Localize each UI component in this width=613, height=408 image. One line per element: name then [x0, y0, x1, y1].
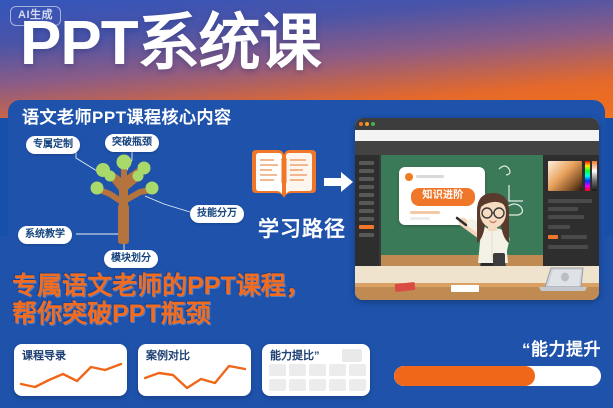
editor-toolbar[interactable] [355, 141, 599, 155]
progress-bar-fill [394, 366, 535, 386]
tool-row-2[interactable] [359, 169, 374, 173]
tool-row-5[interactable] [359, 193, 374, 197]
page-title: PPT系统课 [20, 8, 321, 80]
mindmap-node-3[interactable]: 系统教学 [18, 226, 72, 244]
headline-block: 专属语文老师的PPT课程， 帮你突破PPT瓶颈 [12, 272, 311, 328]
slide-title-bar [416, 175, 444, 178]
panel-row-active[interactable] [548, 235, 558, 239]
grid-block [309, 364, 326, 376]
bottom-cards: 课程导录 案例对比 能力提比” [14, 344, 370, 396]
grid-block [289, 379, 306, 391]
grid-block [289, 364, 306, 376]
panel-row-6[interactable] [548, 245, 588, 249]
grid-block [329, 364, 346, 376]
editor-left-toolbar[interactable] [355, 155, 379, 266]
traffic-dot-1 [359, 122, 363, 126]
color-picker-field[interactable] [548, 161, 582, 191]
panel-row-4[interactable] [548, 225, 570, 229]
card-case-comparison[interactable]: 案例对比 [138, 344, 251, 396]
section-heading: 语文老师PPT课程核心内容 [22, 108, 232, 128]
progress-label: “能力提升 [522, 340, 601, 359]
mindmap-node-0[interactable]: 专属定制 [26, 136, 80, 154]
card-title: 课程导录 [22, 350, 66, 362]
arrow-right-icon [324, 170, 354, 194]
mindmap-node-4[interactable]: 模块划分 [104, 250, 158, 268]
headline-line-2: 帮你突破PPT瓶颈 [12, 300, 311, 328]
tool-row-1[interactable] [359, 161, 374, 165]
card-title: 案例对比 [146, 350, 190, 362]
traffic-light-dots [359, 122, 375, 126]
paper-prop [451, 285, 479, 292]
laptop-icon [537, 265, 589, 291]
blocks-grid [269, 364, 366, 391]
poster-root: AI生成 PPT系统课 语文老师PPT课程核心内容 [0, 0, 613, 408]
grid-block [269, 379, 286, 391]
panel-row-1[interactable] [548, 199, 592, 203]
tool-row-7[interactable] [359, 209, 374, 213]
tool-row-active[interactable] [359, 225, 374, 229]
tool-row-3[interactable] [359, 177, 374, 181]
mindmap-node-1[interactable]: 突破瓶颈 [105, 134, 159, 152]
panel-row-3[interactable] [548, 215, 584, 219]
panel-row-2[interactable] [548, 207, 578, 211]
grid-block [269, 364, 286, 376]
sparkline-chart-1 [19, 362, 123, 390]
browser-url-bar[interactable] [355, 130, 599, 141]
tool-row-8[interactable] [359, 217, 374, 221]
learning-path-label: 学习路径 [246, 218, 358, 242]
editor-right-panel[interactable] [543, 155, 599, 266]
app-window-illustration: 知识进阶 [355, 118, 599, 300]
grid-block [349, 379, 366, 391]
headline-line-1: 专属语文老师的PPT课程， [12, 272, 311, 300]
mindmap-tree: 专属定制 突破瓶颈 技能分万 系统教学 模块划分 [14, 132, 244, 257]
card-course-directory[interactable]: 课程导录 [14, 344, 127, 396]
grid-block [309, 379, 326, 391]
slide-line-2 [410, 217, 430, 220]
folder-icon [342, 349, 362, 362]
open-book-icon [248, 144, 320, 206]
progress-bar-track[interactable] [394, 366, 601, 386]
traffic-dot-2 [365, 122, 369, 126]
tool-row-4[interactable] [359, 185, 374, 189]
traffic-dot-3 [371, 122, 375, 126]
grid-block [329, 379, 346, 391]
window-titlebar [355, 118, 599, 130]
slide-logo-dot [405, 173, 413, 181]
learning-path-block: 学习路径 [246, 144, 358, 254]
tool-row-9[interactable] [359, 233, 374, 237]
tool-row-6[interactable] [359, 201, 374, 205]
sparkline-chart-2 [143, 362, 247, 390]
secondary-color-strip[interactable] [592, 161, 597, 191]
panel-row-5[interactable] [561, 235, 587, 239]
grid-block [349, 364, 366, 376]
mindmap-node-2[interactable]: 技能分万 [190, 205, 244, 223]
card-title: 能力提比” [270, 350, 320, 362]
editor-body: 知识进阶 [355, 155, 599, 300]
card-ability-comparison[interactable]: 能力提比” [262, 344, 370, 396]
hue-slider[interactable] [585, 161, 590, 191]
slide-line-1 [410, 211, 440, 214]
